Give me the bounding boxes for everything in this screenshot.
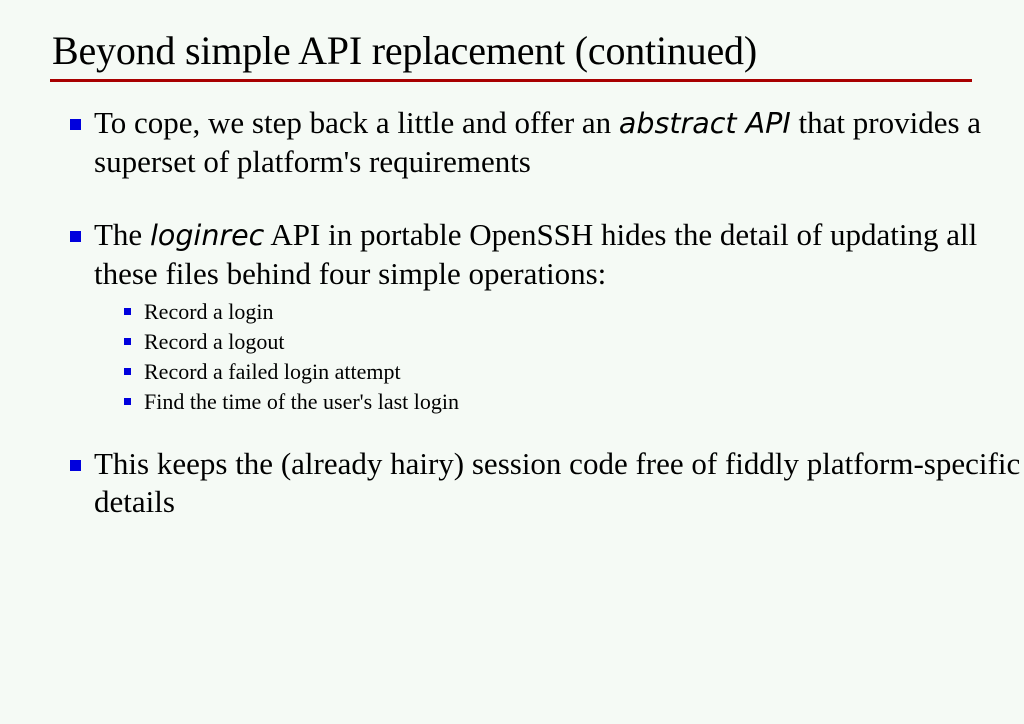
list-item: To cope, we step back a little and offer… [0, 104, 1024, 180]
bullet-1-emphasis: abstract API [619, 107, 791, 140]
bullet-2-emphasis: loginrec [150, 219, 264, 252]
bullet-1-segment-1: To cope, we step back a little and offer… [94, 105, 619, 140]
square-bullet-small-icon [124, 338, 131, 345]
square-bullet-small-icon [124, 308, 131, 315]
list-item: This keeps the (already hairy) session c… [0, 445, 1024, 520]
list-item-text: To cope, we step back a little and offer… [94, 104, 1024, 180]
title-underline-rule [50, 79, 972, 82]
sub-list-item-text: Record a login [144, 299, 274, 324]
slide-body: To cope, we step back a little and offer… [0, 104, 1024, 520]
list-item: Record a failed login attempt [0, 357, 1024, 387]
presentation-slide: Beyond simple API replacement (continued… [0, 0, 1024, 724]
list-item: Record a login [0, 297, 1024, 327]
square-bullet-small-icon [124, 398, 131, 405]
square-bullet-small-icon [124, 368, 131, 375]
list-item: Record a logout [0, 327, 1024, 357]
square-bullet-icon [70, 460, 81, 471]
sub-list-item-text: Find the time of the user's last login [144, 389, 459, 414]
list-item: Find the time of the user's last login [0, 387, 1024, 417]
list-item-text: This keeps the (already hairy) session c… [94, 445, 1024, 520]
list-item-text: The loginrec API in portable OpenSSH hid… [94, 216, 1024, 292]
page-title: Beyond simple API replacement (continued… [50, 28, 972, 76]
list-item: The loginrec API in portable OpenSSH hid… [0, 216, 1024, 292]
square-bullet-icon [70, 231, 81, 242]
spacer [0, 417, 1024, 445]
sub-list-item-text: Record a logout [144, 329, 285, 354]
sub-bullet-list: Record a login Record a logout Record a … [0, 297, 1024, 417]
slide-title-block: Beyond simple API replacement (continued… [50, 28, 972, 82]
spacer [0, 180, 1024, 216]
square-bullet-icon [70, 119, 81, 130]
bullet-2-segment-1: The [94, 217, 150, 252]
sub-list-item-text: Record a failed login attempt [144, 359, 401, 384]
